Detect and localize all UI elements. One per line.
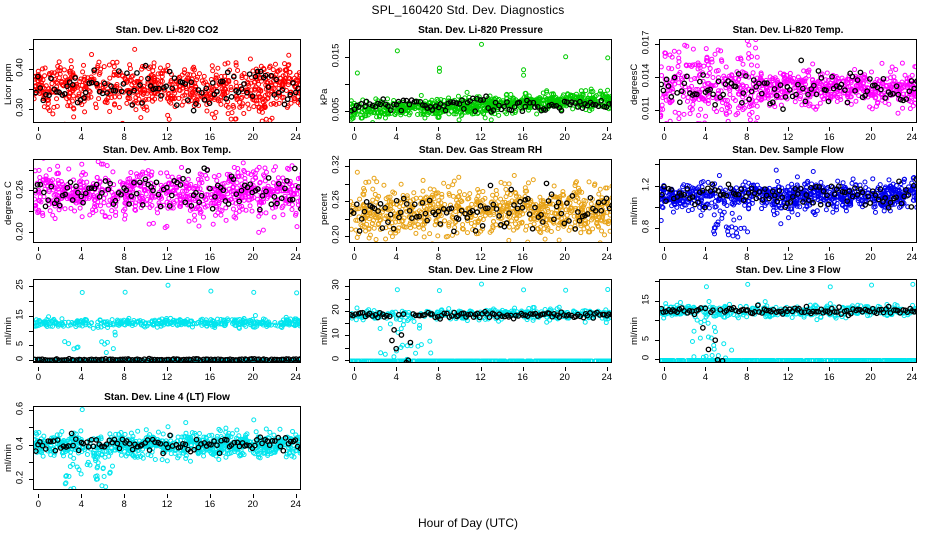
x-tick-label: 20 <box>859 132 883 143</box>
scatter-points-line1-flow <box>34 280 301 363</box>
x-axis-line <box>33 247 301 248</box>
y-tick-label: 0.26 <box>15 177 26 201</box>
x-tick-label: 16 <box>198 372 222 383</box>
y-tick-label: 0.6 <box>15 397 26 421</box>
x-axis-line <box>659 247 917 248</box>
x-tick-label: 24 <box>900 132 924 143</box>
y-tick-mark <box>29 232 33 233</box>
y-tick-label: 0.4 <box>15 431 26 455</box>
panel-li820-pressure: Stan. Dev. Li-820 Pressure0.0050.015kPa0… <box>316 25 621 143</box>
x-tick-label: 0 <box>342 132 366 143</box>
y-axis-label-line4-lt-flow: ml/min <box>3 444 14 472</box>
y-tick-mark-minor <box>29 211 33 212</box>
panel-line4-lt-flow: Stan. Dev. Line 4 (LT) Flow0.20.40.6ml/m… <box>0 392 316 510</box>
x-tick-label: 16 <box>817 132 841 143</box>
x-tick-label: 20 <box>241 252 265 263</box>
y-tick-label: 0.30 <box>15 96 26 120</box>
y-tick-mark <box>29 286 33 287</box>
x-tick-label: 0 <box>342 372 366 383</box>
x-tick-label: 4 <box>69 499 93 510</box>
x-tick-label: 12 <box>776 132 800 143</box>
x-tick-label: 20 <box>241 132 265 143</box>
y-axis-label-line2-flow: ml/min <box>319 317 330 345</box>
y-tick-label: 20 <box>331 297 342 321</box>
panel-title-sample-flow: Stan. Dev. Sample Flow <box>659 145 917 156</box>
y-axis-label-line1-flow: ml/min <box>3 317 14 345</box>
x-tick-label: 24 <box>595 372 619 383</box>
y-tick-mark-minor <box>345 84 349 85</box>
panel-li820-temp: Stan. Dev. Li-820 Temp.0.0110.0140.017de… <box>621 25 936 143</box>
panel-title-line2-flow: Stan. Dev. Line 2 Flow <box>349 265 612 276</box>
x-tick-label: 4 <box>384 372 408 383</box>
y-tick-mark <box>345 166 349 167</box>
plot-area-gas-stream-rh <box>349 159 612 243</box>
x-tick-label: 4 <box>693 132 717 143</box>
x-tick-label: 24 <box>284 252 308 263</box>
x-tick-label: 20 <box>859 252 883 263</box>
x-tick-label: 16 <box>198 499 222 510</box>
x-tick-label: 0 <box>26 252 50 263</box>
x-tick-label: 0 <box>26 132 50 143</box>
x-tick-label: 4 <box>384 252 408 263</box>
x-tick-label: 20 <box>859 372 883 383</box>
x-axis-line <box>349 247 612 248</box>
x-tick-label: 24 <box>595 132 619 143</box>
x-axis-line <box>349 367 612 368</box>
y-tick-label: 0.20 <box>15 219 26 243</box>
x-tick-label: 8 <box>112 132 136 143</box>
x-tick-label: 8 <box>112 372 136 383</box>
y-tick-label: 15 <box>641 287 652 311</box>
y-tick-mark <box>655 110 659 111</box>
y-axis-label-li820-pressure: kPa <box>319 89 330 105</box>
y-tick-mark-minor <box>29 427 33 428</box>
y-tick-label: 0.40 <box>15 56 26 80</box>
plot-area-line1-flow <box>33 279 301 363</box>
y-tick-label: 0.011 <box>641 96 652 120</box>
y-tick-mark-minor <box>345 348 349 349</box>
panel-line2-flow: Stan. Dev. Line 2 Flow0102030ml/min04812… <box>316 265 621 383</box>
x-tick-label: 0 <box>652 372 676 383</box>
x-tick-label: 8 <box>112 499 136 510</box>
scatter-points-line4-lt-flow <box>34 407 301 490</box>
y-tick-mark <box>345 286 349 287</box>
y-tick-mark-minor <box>655 207 659 208</box>
x-tick-label: 16 <box>817 252 841 263</box>
x-tick-label: 12 <box>469 132 493 143</box>
plot-area-li820-co2 <box>33 39 301 123</box>
y-axis-label-line3-flow: ml/min <box>629 317 640 345</box>
y-axis-label-amb-box-temp: degrees C <box>3 181 14 225</box>
y-tick-label: 0.017 <box>641 31 652 55</box>
y-tick-mark <box>29 190 33 191</box>
figure-title: SPL_160420 Std. Dev. Diagnostics <box>0 3 936 17</box>
panel-gas-stream-rh: Stan. Dev. Gas Stream RH0.200.260.32perc… <box>316 145 621 263</box>
y-tick-mark <box>29 316 33 317</box>
y-tick-mark <box>655 340 659 341</box>
x-tick-label: 24 <box>900 252 924 263</box>
x-tick-label: 16 <box>198 252 222 263</box>
y-tick-mark <box>29 109 33 110</box>
y-tick-label: 15 <box>15 302 26 326</box>
x-tick-label: 16 <box>511 252 535 263</box>
x-axis-line <box>33 367 301 368</box>
y-tick-mark-minor <box>29 170 33 171</box>
x-tick-label: 24 <box>284 372 308 383</box>
y-tick-mark-minor <box>29 301 33 302</box>
x-tick-label: 20 <box>241 372 265 383</box>
x-tick-label: 24 <box>284 499 308 510</box>
x-tick-label: 4 <box>69 132 93 143</box>
y-tick-label: 25 <box>15 273 26 297</box>
y-tick-mark-minor <box>655 164 659 165</box>
panel-sample-flow: Stan. Dev. Sample Flow0.81.2ml/min048121… <box>621 145 936 263</box>
y-tick-label: 5 <box>15 332 26 356</box>
x-tick-label: 8 <box>735 252 759 263</box>
x-axis-line <box>349 127 612 128</box>
y-tick-label: 0.32 <box>331 153 342 177</box>
x-axis-line <box>33 494 301 495</box>
y-tick-mark-minor <box>345 323 349 324</box>
y-tick-mark-minor <box>345 219 349 220</box>
y-tick-mark-minor <box>29 462 33 463</box>
y-tick-mark <box>655 44 659 45</box>
y-tick-mark-minor <box>29 49 33 50</box>
y-tick-mark <box>29 345 33 346</box>
x-tick-label: 8 <box>426 372 450 383</box>
x-tick-label: 20 <box>241 499 265 510</box>
plot-area-li820-temp <box>659 39 917 123</box>
panel-title-li820-temp: Stan. Dev. Li-820 Temp. <box>659 25 917 36</box>
x-tick-label: 4 <box>69 252 93 263</box>
y-tick-mark <box>655 359 659 360</box>
x-tick-label: 24 <box>900 372 924 383</box>
y-axis-label-li820-temp: degreesC <box>629 64 640 105</box>
x-tick-label: 0 <box>652 132 676 143</box>
panel-li820-co2: Stan. Dev. Li-820 CO20.300.40Licor ppm04… <box>0 25 316 143</box>
x-tick-label: 0 <box>342 252 366 263</box>
x-tick-label: 16 <box>198 132 222 143</box>
plot-area-line3-flow <box>659 279 917 363</box>
y-axis-label-sample-flow: ml/min <box>629 197 640 225</box>
y-tick-mark <box>345 335 349 336</box>
y-tick-mark <box>345 311 349 312</box>
y-axis-label-li820-co2: Licor ppm <box>3 63 14 105</box>
scatter-points-li820-pressure <box>350 40 612 123</box>
x-tick-label: 4 <box>693 252 717 263</box>
x-tick-label: 4 <box>384 132 408 143</box>
diagnostics-figure: SPL_160420 Std. Dev. Diagnostics Hour of… <box>0 0 936 540</box>
plot-area-sample-flow <box>659 159 917 243</box>
scatter-points-li820-temp <box>660 40 917 123</box>
x-tick-label: 12 <box>155 372 179 383</box>
y-tick-mark <box>29 69 33 70</box>
x-tick-label: 12 <box>469 372 493 383</box>
y-tick-label: 0.2 <box>15 465 26 489</box>
scatter-points-amb-box-temp <box>34 160 301 243</box>
y-tick-mark <box>345 57 349 58</box>
panel-title-li820-pressure: Stan. Dev. Li-820 Pressure <box>349 25 612 36</box>
y-tick-mark-minor <box>655 281 659 282</box>
x-tick-label: 16 <box>511 372 535 383</box>
x-tick-label: 12 <box>776 372 800 383</box>
y-tick-mark <box>345 236 349 237</box>
panel-line3-flow: Stan. Dev. Line 3 Flow0515ml/min04812162… <box>621 265 936 383</box>
y-tick-mark <box>345 111 349 112</box>
scatter-points-line2-flow <box>350 280 612 363</box>
y-tick-mark <box>29 479 33 480</box>
scatter-points-gas-stream-rh <box>350 160 612 243</box>
x-tick-label: 12 <box>776 252 800 263</box>
y-tick-label: 0.26 <box>331 188 342 212</box>
panel-title-line4-lt-flow: Stan. Dev. Line 4 (LT) Flow <box>33 392 301 403</box>
x-tick-label: 16 <box>817 372 841 383</box>
plot-area-line2-flow <box>349 279 612 363</box>
x-tick-label: 24 <box>595 252 619 263</box>
y-tick-mark <box>655 77 659 78</box>
x-tick-label: 8 <box>426 252 450 263</box>
panel-title-line3-flow: Stan. Dev. Line 3 Flow <box>659 265 917 276</box>
x-tick-label: 0 <box>652 252 676 263</box>
x-tick-label: 12 <box>469 252 493 263</box>
scatter-points-li820-co2 <box>34 40 301 123</box>
y-tick-mark <box>655 186 659 187</box>
x-tick-label: 20 <box>553 252 577 263</box>
y-tick-label: 0.8 <box>641 215 652 239</box>
x-tick-label: 4 <box>693 372 717 383</box>
x-tick-label: 20 <box>553 372 577 383</box>
y-tick-label: 30 <box>331 273 342 297</box>
x-tick-label: 8 <box>112 252 136 263</box>
plot-area-amb-box-temp <box>33 159 301 243</box>
x-tick-label: 12 <box>155 499 179 510</box>
x-axis-line <box>659 367 917 368</box>
y-tick-label: 0.014 <box>641 64 652 88</box>
y-tick-label: 0 <box>331 347 342 371</box>
x-tick-label: 24 <box>284 132 308 143</box>
plot-area-li820-pressure <box>349 39 612 123</box>
panel-line1-flow: Stan. Dev. Line 1 Flow051525ml/min048121… <box>0 265 316 383</box>
figure-xaxis-label: Hour of Day (UTC) <box>0 516 936 530</box>
panel-title-amb-box-temp: Stan. Dev. Amb. Box Temp. <box>33 145 301 156</box>
y-tick-label: 1.2 <box>641 172 652 196</box>
y-tick-label: 0.005 <box>331 98 342 122</box>
x-tick-label: 8 <box>735 372 759 383</box>
panel-title-li820-co2: Stan. Dev. Li-820 CO2 <box>33 25 301 36</box>
x-tick-label: 8 <box>426 132 450 143</box>
panel-title-gas-stream-rh: Stan. Dev. Gas Stream RH <box>349 145 612 156</box>
y-tick-label: 0.015 <box>331 43 342 67</box>
y-tick-label: 0.20 <box>331 223 342 247</box>
panel-amb-box-temp: Stan. Dev. Amb. Box Temp.0.200.26degrees… <box>0 145 316 263</box>
y-axis-label-gas-stream-rh: percent <box>319 193 330 225</box>
y-tick-mark <box>345 360 349 361</box>
y-tick-label: 10 <box>331 322 342 346</box>
y-tick-mark-minor <box>29 89 33 90</box>
x-tick-label: 0 <box>26 372 50 383</box>
y-tick-mark <box>655 228 659 229</box>
y-tick-mark-minor <box>29 331 33 332</box>
panel-title-line1-flow: Stan. Dev. Line 1 Flow <box>33 265 301 276</box>
y-tick-mark-minor <box>655 320 659 321</box>
x-tick-label: 4 <box>69 372 93 383</box>
x-tick-label: 12 <box>155 252 179 263</box>
x-tick-label: 8 <box>735 132 759 143</box>
x-tick-label: 20 <box>553 132 577 143</box>
scatter-points-line3-flow <box>660 280 917 363</box>
y-tick-mark <box>29 410 33 411</box>
plot-area-line4-lt-flow <box>33 406 301 490</box>
x-tick-label: 16 <box>511 132 535 143</box>
x-tick-label: 12 <box>155 132 179 143</box>
x-tick-label: 0 <box>26 499 50 510</box>
y-tick-mark <box>655 301 659 302</box>
x-axis-line <box>659 127 917 128</box>
y-tick-mark-minor <box>345 299 349 300</box>
scatter-points-sample-flow <box>660 160 917 243</box>
y-tick-label: 5 <box>641 326 652 350</box>
y-tick-mark <box>29 360 33 361</box>
y-tick-mark-minor <box>345 184 349 185</box>
x-axis-line <box>33 127 301 128</box>
y-tick-mark <box>345 201 349 202</box>
y-tick-mark <box>29 445 33 446</box>
